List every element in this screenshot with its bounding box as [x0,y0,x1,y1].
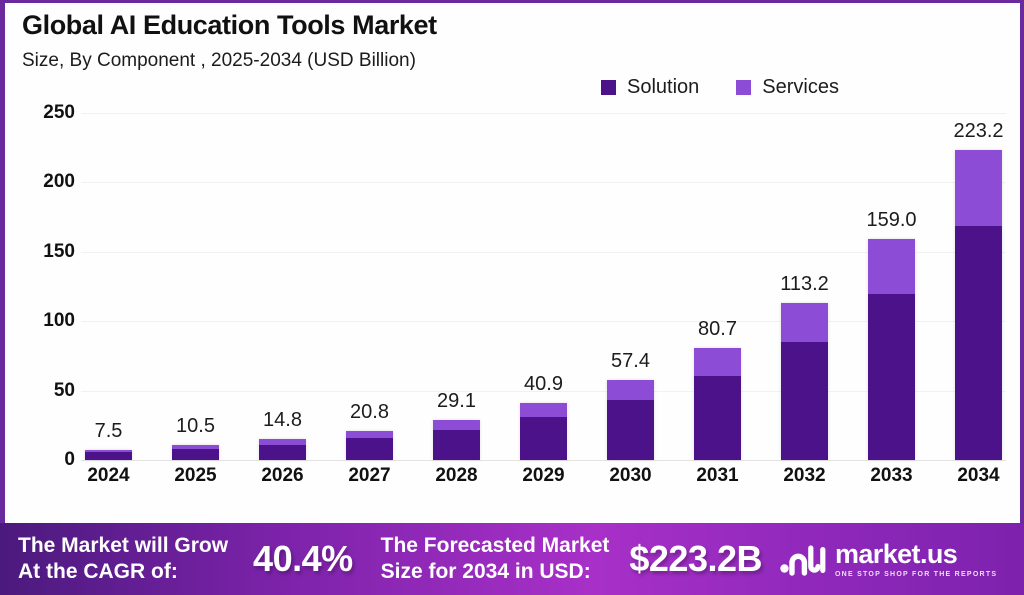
cagr-value: 40.4% [253,538,353,580]
bar-value-label: 29.1 [437,390,476,413]
forecast-label-line1: The Forecasted Market [381,533,610,559]
bar-value-label: 10.5 [176,415,215,438]
stacked-bar[interactable] [259,439,306,460]
infographic-frame: Global AI Education Tools Market Size, B… [0,0,1024,595]
stacked-bar[interactable] [172,445,219,460]
bar-column[interactable]: 10.5 [172,103,219,460]
y-axis-tick: 150 [7,241,75,263]
bar-segment-services[interactable] [346,431,393,438]
x-axis-tick: 2033 [868,465,915,487]
bar-segment-services[interactable] [607,380,654,400]
bar-segment-solution[interactable] [346,438,393,460]
cagr-label-line1: The Market will Grow [18,533,228,559]
forecast-value: $223.2B [629,538,762,580]
legend-item-solution[interactable]: Solution [601,76,699,99]
bar-value-label: 57.4 [611,350,650,373]
bar-segment-solution[interactable] [433,430,480,460]
bar-segment-solution[interactable] [520,417,567,460]
x-axis-tick: 2031 [694,465,741,487]
x-axis-tick: 2027 [346,465,393,487]
stacked-bar[interactable] [520,403,567,460]
x-axis-tick: 2032 [781,465,828,487]
bar-column[interactable]: 14.8 [259,103,306,460]
bar-segment-solution[interactable] [172,449,219,460]
x-axis: 2024202520262027202820292030203120322033… [85,465,1002,487]
y-axis-tick: 0 [7,449,75,471]
cagr-label: The Market will Grow At the CAGR of: [18,533,228,584]
bar-column[interactable]: 40.9 [520,103,567,460]
bar-segment-services[interactable] [781,303,828,342]
x-axis-tick: 2030 [607,465,654,487]
legend-label: Solution [627,76,699,99]
y-axis-tick: 250 [7,102,75,124]
bar-value-label: 40.9 [524,373,563,396]
bar-segment-solution[interactable] [85,452,132,460]
bar-value-label: 20.8 [350,401,389,424]
y-axis: 050100150200250 [5,103,75,451]
legend-swatch-icon [601,80,616,95]
stacked-bar[interactable] [694,348,741,460]
stacked-bar[interactable] [955,150,1002,460]
bar-column[interactable]: 57.4 [607,103,654,460]
chart-legend: SolutionServices [601,76,839,99]
bar-segment-services[interactable] [694,348,741,376]
legend-item-services[interactable]: Services [736,76,839,99]
brand-tagline: ONE STOP SHOP FOR THE REPORTS [835,571,997,578]
bar-segment-solution[interactable] [607,400,654,460]
bar-segment-solution[interactable] [868,294,915,460]
forecast-label-line2: Size for 2034 in USD: [381,559,610,585]
x-axis-tick: 2034 [955,465,1002,487]
footer-bar: The Market will Grow At the CAGR of: 40.… [0,523,1024,595]
bar-column[interactable]: 159.0 [868,103,915,460]
legend-swatch-icon [736,80,751,95]
bar-value-label: 159.0 [866,209,916,232]
stacked-bar[interactable] [607,380,654,460]
bar-segment-services[interactable] [868,239,915,294]
chart-subtitle: Size, By Component , 2025-2034 (USD Bill… [22,50,437,72]
stacked-bar[interactable] [85,450,132,460]
x-axis-tick: 2029 [520,465,567,487]
chart-plot-area: 050100150200250 7.510.514.820.829.140.95… [5,103,1020,473]
stacked-bar[interactable] [346,431,393,460]
x-axis-tick: 2026 [259,465,306,487]
bar-column[interactable]: 223.2 [955,103,1002,460]
bar-value-label: 14.8 [263,409,302,432]
bar-segment-solution[interactable] [694,376,741,460]
x-axis-tick: 2024 [85,465,132,487]
bar-column[interactable]: 29.1 [433,103,480,460]
brand-text: market.us ONE STOP SHOP FOR THE REPORTS [835,541,997,578]
bar-value-label: 223.2 [953,120,1003,143]
bar-segment-solution[interactable] [259,445,306,460]
cagr-label-line2: At the CAGR of: [18,559,228,585]
page-title: Global AI Education Tools Market [22,10,437,41]
brand-logo[interactable]: market.us ONE STOP SHOP FOR THE REPORTS [780,541,997,578]
bar-column[interactable]: 20.8 [346,103,393,460]
bar-segment-services[interactable] [955,150,1002,226]
chart-header: Global AI Education Tools Market Size, B… [22,10,437,72]
stacked-bar[interactable] [868,239,915,460]
brand-name: market.us [835,541,997,568]
bar-value-label: 80.7 [698,318,737,341]
y-axis-tick: 50 [7,380,75,402]
bar-group: 7.510.514.820.829.140.957.480.7113.2159.… [85,103,1002,460]
y-axis-tick: 200 [7,171,75,193]
bar-column[interactable]: 113.2 [781,103,828,460]
stacked-bar[interactable] [781,303,828,460]
bar-value-label: 113.2 [780,273,829,296]
y-axis-tick: 100 [7,310,75,332]
bar-segment-services[interactable] [433,420,480,430]
bar-segment-solution[interactable] [781,342,828,460]
axis-baseline [81,460,1006,461]
stacked-bar[interactable] [433,420,480,460]
bar-value-label: 7.5 [95,420,123,443]
bar-segment-solution[interactable] [955,226,1002,460]
forecast-label: The Forecasted Market Size for 2034 in U… [381,533,610,584]
x-axis-tick: 2028 [433,465,480,487]
bar-segment-services[interactable] [520,403,567,417]
legend-label: Services [762,76,839,99]
x-axis-tick: 2025 [172,465,219,487]
market-us-logo-icon [780,542,826,576]
bar-column[interactable]: 7.5 [85,103,132,460]
bar-column[interactable]: 80.7 [694,103,741,460]
